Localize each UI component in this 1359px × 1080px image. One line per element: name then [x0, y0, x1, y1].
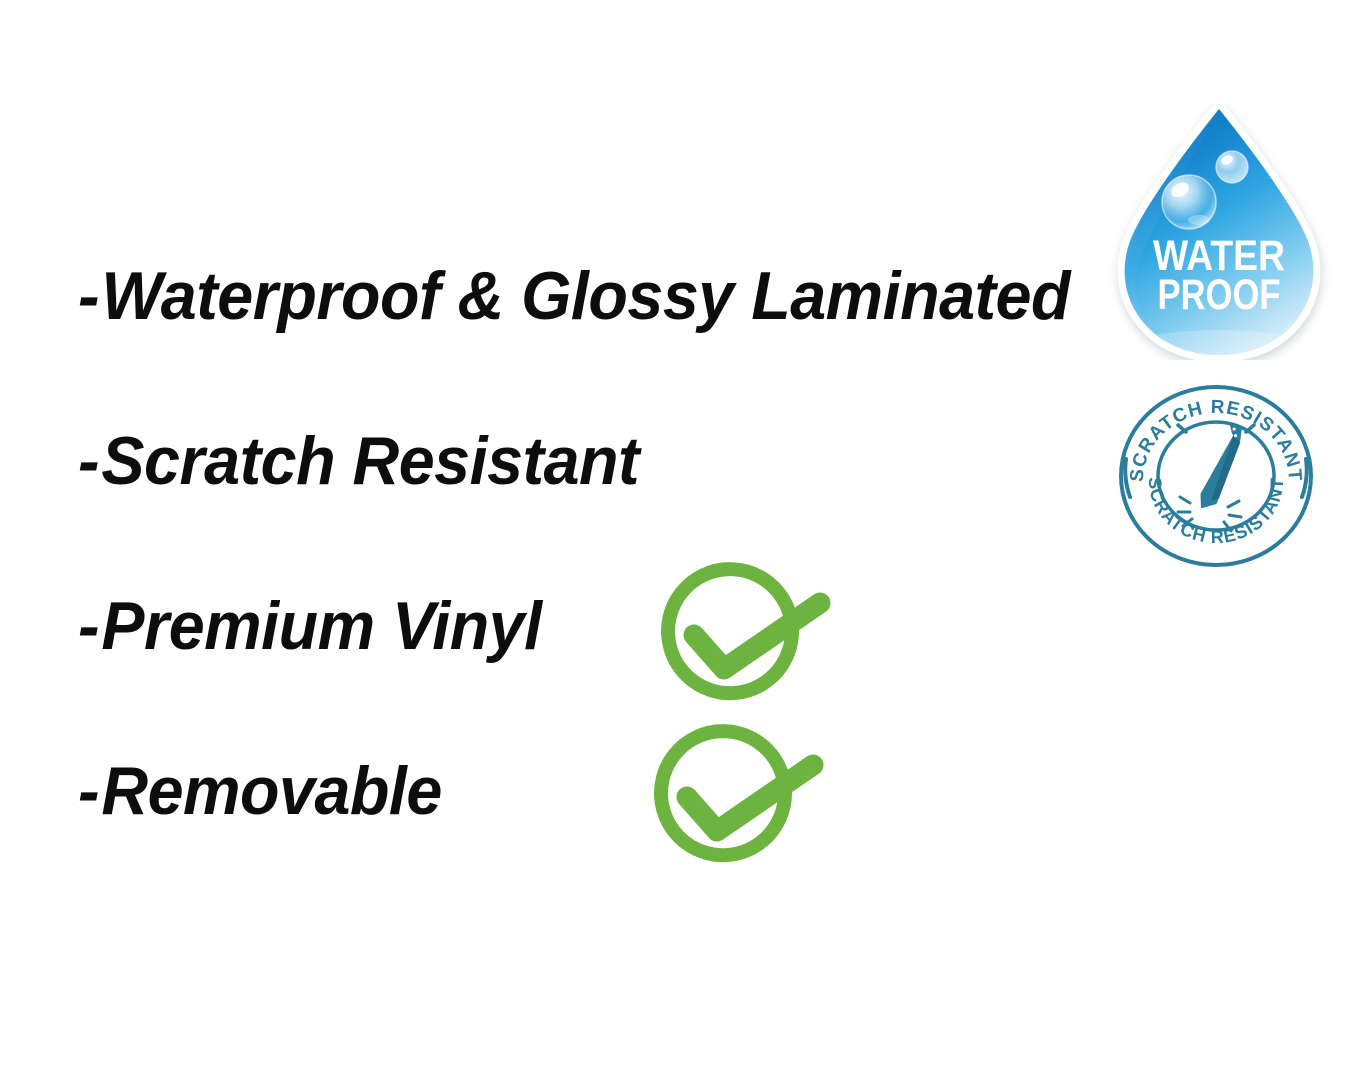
check-circle-icon-2	[633, 719, 833, 879]
waterproof-line2: PROOF	[1158, 271, 1281, 319]
feature-dash: -	[78, 258, 101, 334]
feature-label: Waterproof & Glossy Laminated	[101, 258, 1070, 334]
feature-item-removable: -Removable	[78, 757, 442, 825]
waterproof-badge: WATER PROOF	[1104, 104, 1334, 360]
feature-label: Scratch Resistant	[101, 423, 639, 499]
check-mark-stroke	[694, 603, 820, 669]
water-bubble-large	[1162, 175, 1216, 229]
feature-item-premium-vinyl: -Premium Vinyl	[78, 592, 542, 660]
feature-label: Premium Vinyl	[101, 588, 541, 664]
feature-dash: -	[78, 753, 101, 829]
water-bubble-small	[1216, 151, 1248, 183]
feature-item-waterproof-glossy-laminated: -Waterproof & Glossy Laminated	[78, 262, 1070, 330]
feature-item-scratch-resistant: -Scratch Resistant	[78, 427, 639, 495]
knife-icon	[1197, 420, 1244, 514]
scratch-resistant-badge: SCRATCH RESISTANT SCRATCH RESISTANT	[1118, 385, 1314, 567]
feature-list-page: -Waterproof & Glossy Laminated -Scratch …	[0, 0, 1359, 1080]
check-circle-icon-1	[640, 557, 840, 717]
feature-dash: -	[78, 588, 101, 664]
check-mark-stroke	[687, 765, 813, 831]
feature-label: Removable	[101, 753, 441, 829]
feature-dash: -	[78, 423, 101, 499]
